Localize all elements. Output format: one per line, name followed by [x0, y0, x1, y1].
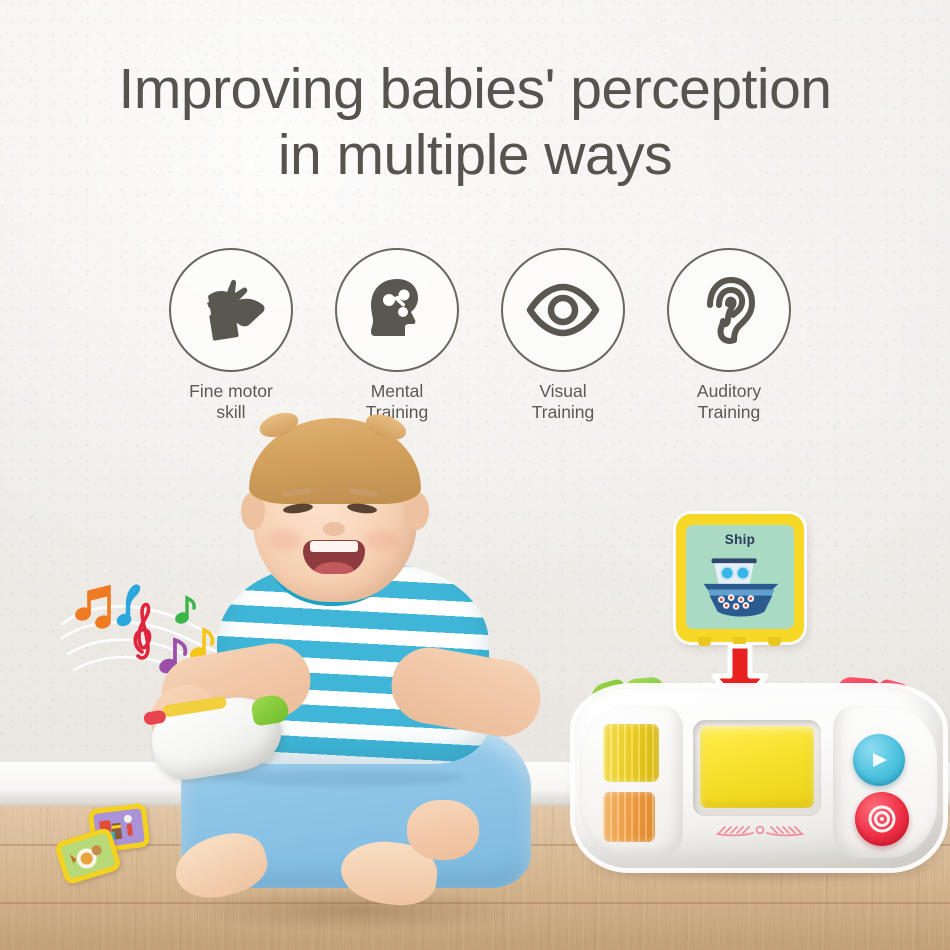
baby-cheek-left [267, 530, 301, 550]
ship-card-inner: Ship [686, 525, 794, 629]
play-triangle-icon [867, 748, 891, 772]
feature-circle [335, 248, 459, 372]
note-treble-clef [135, 604, 149, 658]
roller-ridges [603, 792, 655, 842]
feature-circle [501, 248, 625, 372]
feature-label: Auditory Training [663, 381, 795, 424]
feature-auditory-training: Auditory Training [663, 248, 795, 424]
learning-card-reader-toy[interactable] [565, 676, 950, 888]
record-button[interactable] [855, 792, 909, 846]
baby-photo-subject [175, 418, 545, 950]
controller-yellow-screen[interactable] [700, 726, 814, 808]
feature-mental-training: Mental Training [331, 248, 463, 424]
baby-hand-right [407, 800, 479, 860]
ear-icon [690, 271, 768, 349]
hand-grasping-block-icon [194, 273, 268, 347]
feature-fine-motor-skill: Fine motor skill [165, 248, 297, 424]
head-brain-network-icon [360, 273, 434, 347]
headline: Improving babies' perception in multiple… [0, 60, 950, 186]
baby-teeth [310, 541, 358, 552]
feature-circle [667, 248, 791, 372]
baby-cheek-right [365, 530, 399, 550]
eye-icon [524, 271, 602, 349]
feature-circle [169, 248, 293, 372]
feature-visual-training: Visual Training [497, 248, 629, 424]
roller-ridges [603, 724, 659, 782]
controller-yellow-roller[interactable] [603, 724, 659, 782]
headline-line-1: Improving babies' perception [0, 60, 950, 120]
headline-line-2: in multiple ways [0, 126, 950, 186]
banner-stage: Improving babies' perception in multiple… [0, 0, 950, 950]
baby-smiling-mouth [303, 540, 365, 574]
ship-card-label: Ship [686, 532, 794, 547]
held-toy-green-tab [250, 693, 290, 726]
baby-nose [323, 522, 345, 536]
play-button[interactable] [853, 734, 905, 786]
controller-orange-roller[interactable] [603, 792, 655, 842]
feature-icon-row: Fine motor skill Mental Training [165, 248, 795, 424]
controller-decor-pattern [715, 822, 805, 840]
baby-tongue [314, 562, 354, 574]
ship-picture-card[interactable]: Ship [676, 514, 804, 642]
concentric-circles-icon [867, 804, 897, 834]
